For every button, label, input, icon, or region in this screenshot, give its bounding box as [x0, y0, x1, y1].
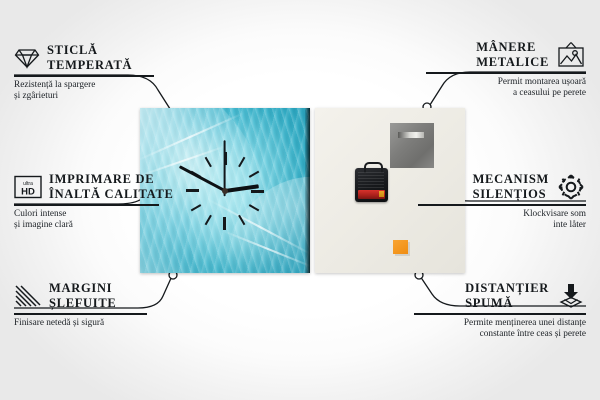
callout-desc-line2: inte låter — [418, 220, 586, 232]
callout-title-line2: ÎNALTĂ CALITATE — [49, 187, 174, 202]
callout-divider — [14, 313, 147, 315]
infographic-canvas: STICLĂ TEMPERATĂ Rezistență la spargere … — [0, 0, 600, 400]
callout-desc-line1: Finisare netedă și sigură — [14, 318, 147, 330]
callout-title-line2: ȘLEFUITE — [49, 296, 116, 311]
diamond-icon — [14, 47, 40, 69]
callout-header: MÂNERE METALICE — [426, 40, 586, 69]
callout-title-line2: TEMPERATĂ — [47, 58, 132, 73]
battery — [358, 190, 385, 199]
feather-texture — [198, 151, 310, 273]
callout-polished-edges: MARGINI ȘLEFUITE Finisare netedă și sigu… — [14, 281, 147, 329]
callout-divider — [14, 75, 154, 77]
callout-tempered-glass: STICLĂ TEMPERATĂ Rezistență la spargere … — [14, 43, 154, 103]
callout-metal-handles: MÂNERE METALICE Permit montarea ușoară a… — [426, 40, 586, 100]
callout-desc-line1: Culori intense — [14, 209, 174, 221]
callout-desc-line2: și zgârieturi — [14, 91, 154, 103]
callout-title-line1: MECANISM — [473, 172, 549, 187]
callout-title-line2: SPUMĂ — [465, 296, 549, 311]
gear-icon — [556, 173, 586, 201]
light-streak — [221, 229, 310, 268]
callout-header: DISTANȚIER SPUMĂ — [414, 281, 586, 310]
callout-hd-print: ultra HD IMPRIMARE DE ÎNALTĂ CALITATE Cu… — [14, 172, 174, 232]
hatched-edge-icon — [14, 284, 42, 308]
down-arrow-stack-icon — [556, 282, 586, 310]
svg-text:HD: HD — [21, 186, 35, 197]
callout-divider — [418, 204, 586, 206]
callout-divider — [426, 72, 586, 74]
hand-center-cap — [222, 188, 228, 194]
metal-hanger-plate — [390, 123, 434, 168]
callout-title-line1: MÂNERE — [476, 40, 549, 55]
callout-desc-line2: a ceasului pe perete — [426, 88, 586, 100]
mechanism-vents — [358, 172, 384, 188]
callout-divider — [414, 313, 586, 315]
callout-title-line1: IMPRIMARE DE — [49, 172, 174, 187]
callout-title-line1: MARGINI — [49, 281, 116, 296]
callout-desc-line2: constante între ceas și perete — [414, 329, 586, 341]
callout-desc-line1: Permite menținerea unei distanțe — [414, 318, 586, 330]
callout-title-line1: STICLĂ — [47, 43, 132, 58]
callout-divider — [14, 204, 159, 206]
callout-header: MARGINI ȘLEFUITE — [14, 281, 147, 310]
ultra-hd-icon: ultra HD — [14, 175, 42, 199]
callout-title-line2: SILENȚIOS — [473, 187, 549, 202]
clock-mechanism — [355, 168, 388, 202]
callout-desc-line1: Permit montarea ușoară — [426, 77, 586, 89]
light-streak — [140, 112, 245, 163]
product-photo — [140, 108, 465, 273]
callout-header: MECANISM SILENȚIOS — [418, 172, 586, 201]
callout-header: STICLĂ TEMPERATĂ — [14, 43, 154, 72]
callout-desc-line2: și imagine clară — [14, 220, 174, 232]
callout-title-line1: DISTANȚIER — [465, 281, 549, 296]
callout-header: ultra HD IMPRIMARE DE ÎNALTĂ CALITATE — [14, 172, 174, 201]
callout-silent-mechanism: MECANISM SILENȚIOS Klockvisare som inte … — [418, 172, 586, 232]
callout-foam-spacer: DISTANȚIER SPUMĂ Permite menținerea unei… — [414, 281, 586, 341]
hanger-slot — [398, 132, 424, 138]
callout-desc-line1: Rezistență la spargere — [14, 80, 154, 92]
foam-spacer — [393, 240, 408, 254]
callout-desc-line1: Klockvisare som — [418, 209, 586, 221]
callout-title-line2: METALICE — [476, 55, 549, 70]
hanging-picture-frame-icon — [556, 41, 586, 69]
